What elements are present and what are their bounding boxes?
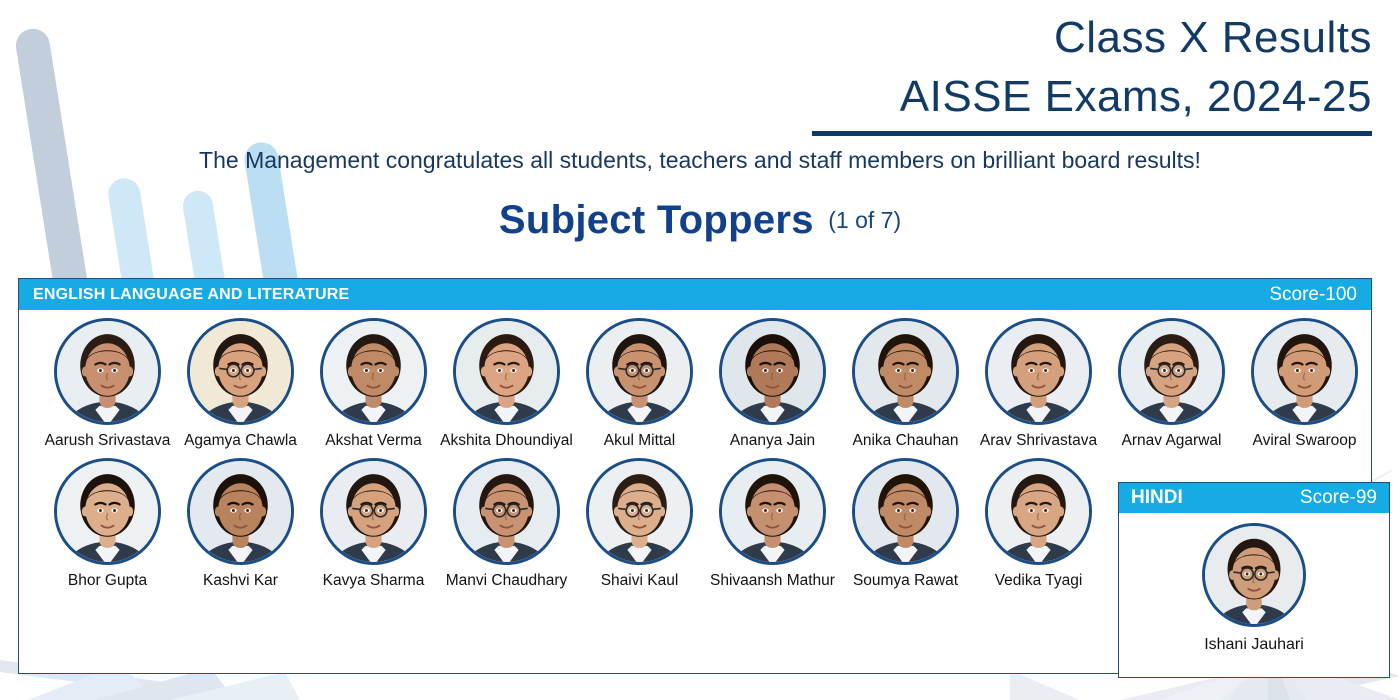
portrait-photo: [456, 321, 557, 422]
topper-name: Akshita Dhoundiyal: [440, 432, 573, 450]
topper-name: Anika Chauhan: [853, 432, 959, 450]
portrait-photo: [589, 461, 690, 562]
topper-name: Kashvi Kar: [203, 572, 278, 590]
topper-name: Shaivi Kaul: [601, 572, 679, 590]
portrait-photo: [323, 321, 424, 422]
topper-card[interactable]: Manvi Chaudhary: [440, 458, 573, 590]
topper-card[interactable]: Arnav Agarwal: [1105, 318, 1238, 450]
avatar: [852, 318, 959, 425]
congratulations-message: The Management congratulates all student…: [0, 147, 1400, 174]
subject-score: Score-100: [1269, 284, 1357, 306]
topper-name: Akul Mittal: [604, 432, 676, 450]
portrait-photo: [190, 321, 291, 422]
avatar: [54, 458, 161, 565]
topper-name: Akshat Verma: [325, 432, 422, 450]
section-heading-text: Subject Toppers: [499, 198, 814, 242]
topper-name: Arnav Agarwal: [1122, 432, 1222, 450]
portrait-photo: [589, 321, 690, 422]
topper-name: Aarush Srivastava: [45, 432, 171, 450]
topper-card[interactable]: Agamya Chawla: [174, 318, 307, 450]
panel-header-english: ENGLISH LANGUAGE AND LITERATURE Score-10…: [19, 279, 1371, 310]
title-underline: [812, 131, 1372, 136]
topper-name: Soumya Rawat: [853, 572, 958, 590]
portrait-photo: [190, 461, 291, 562]
portrait-photo: [57, 461, 158, 562]
topper-card[interactable]: Akul Mittal: [573, 318, 706, 450]
portrait-photo: [323, 461, 424, 562]
portrait-photo: [57, 321, 158, 422]
topper-name: Ananya Jain: [730, 432, 815, 450]
section-page-count: (1 of 7): [828, 207, 901, 233]
subject-panel-hindi: HINDI Score-99 Ishani Jauhari: [1118, 482, 1390, 678]
avatar: [320, 458, 427, 565]
panel-header-hindi: HINDI Score-99: [1119, 483, 1389, 513]
topper-card[interactable]: Shivaansh Mathur: [706, 458, 839, 590]
topper-card[interactable]: Vedika Tyagi: [972, 458, 1105, 590]
topper-card[interactable]: Akshat Verma: [307, 318, 440, 450]
topper-card[interactable]: Akshita Dhoundiyal: [440, 318, 573, 450]
topper-card[interactable]: Aarush Srivastava: [41, 318, 174, 450]
avatar: [1118, 318, 1225, 425]
section-heading: Subject Toppers (1 of 7): [0, 198, 1400, 243]
portrait-photo: [988, 321, 1089, 422]
avatar: [985, 458, 1092, 565]
topper-name: Vedika Tyagi: [995, 572, 1083, 590]
portrait-photo: [1205, 526, 1303, 624]
topper-card[interactable]: Bhor Gupta: [41, 458, 174, 590]
topper-name: Bhor Gupta: [68, 572, 147, 590]
portrait-photo: [855, 461, 956, 562]
subject-score: Score-99: [1300, 487, 1377, 509]
topper-card[interactable]: Ananya Jain: [706, 318, 839, 450]
topper-name: Shivaansh Mathur: [710, 572, 835, 590]
avatar: [719, 458, 826, 565]
portrait-photo: [722, 461, 823, 562]
page-header: Class X Results AISSE Exams, 2024-25: [512, 8, 1372, 136]
topper-row: Aarush SrivastavaAgamya ChawlaAkshat Ver…: [19, 318, 1371, 450]
avatar: [852, 458, 959, 565]
avatar: [586, 458, 693, 565]
portrait-photo: [1121, 321, 1222, 422]
portrait-photo: [722, 321, 823, 422]
topper-card[interactable]: Arav Shrivastava: [972, 318, 1105, 450]
avatar: [453, 458, 560, 565]
topper-card[interactable]: Anika Chauhan: [839, 318, 972, 450]
topper-name: Arav Shrivastava: [980, 432, 1097, 450]
topper-card[interactable]: Soumya Rawat: [839, 458, 972, 590]
page-title-line-1: Class X Results: [512, 8, 1372, 67]
topper-rows-hindi: Ishani Jauhari: [1119, 513, 1389, 654]
avatar: [1251, 318, 1358, 425]
portrait-photo: [988, 461, 1089, 562]
portrait-photo: [456, 461, 557, 562]
avatar: [985, 318, 1092, 425]
portrait-photo: [855, 321, 956, 422]
topper-card[interactable]: Ishani Jauhari: [1141, 523, 1367, 654]
avatar: [719, 318, 826, 425]
topper-name: Agamya Chawla: [184, 432, 297, 450]
avatar: [187, 318, 294, 425]
topper-name: Kavya Sharma: [323, 572, 425, 590]
topper-card[interactable]: Aviral Swaroop: [1238, 318, 1371, 450]
portrait-photo: [1254, 321, 1355, 422]
topper-card[interactable]: Shaivi Kaul: [573, 458, 706, 590]
avatar: [1202, 523, 1306, 627]
avatar: [453, 318, 560, 425]
topper-row: Ishani Jauhari: [1119, 513, 1389, 654]
avatar: [187, 458, 294, 565]
avatar: [586, 318, 693, 425]
topper-card[interactable]: Kavya Sharma: [307, 458, 440, 590]
subject-name: HINDI: [1131, 487, 1183, 509]
topper-name: Manvi Chaudhary: [446, 572, 567, 590]
avatar: [320, 318, 427, 425]
avatar: [54, 318, 161, 425]
subject-name: ENGLISH LANGUAGE AND LITERATURE: [33, 286, 349, 304]
topper-name: Aviral Swaroop: [1253, 432, 1357, 450]
page-title-line-2: AISSE Exams, 2024-25: [512, 67, 1372, 126]
topper-name: Ishani Jauhari: [1204, 636, 1304, 654]
topper-card[interactable]: Kashvi Kar: [174, 458, 307, 590]
